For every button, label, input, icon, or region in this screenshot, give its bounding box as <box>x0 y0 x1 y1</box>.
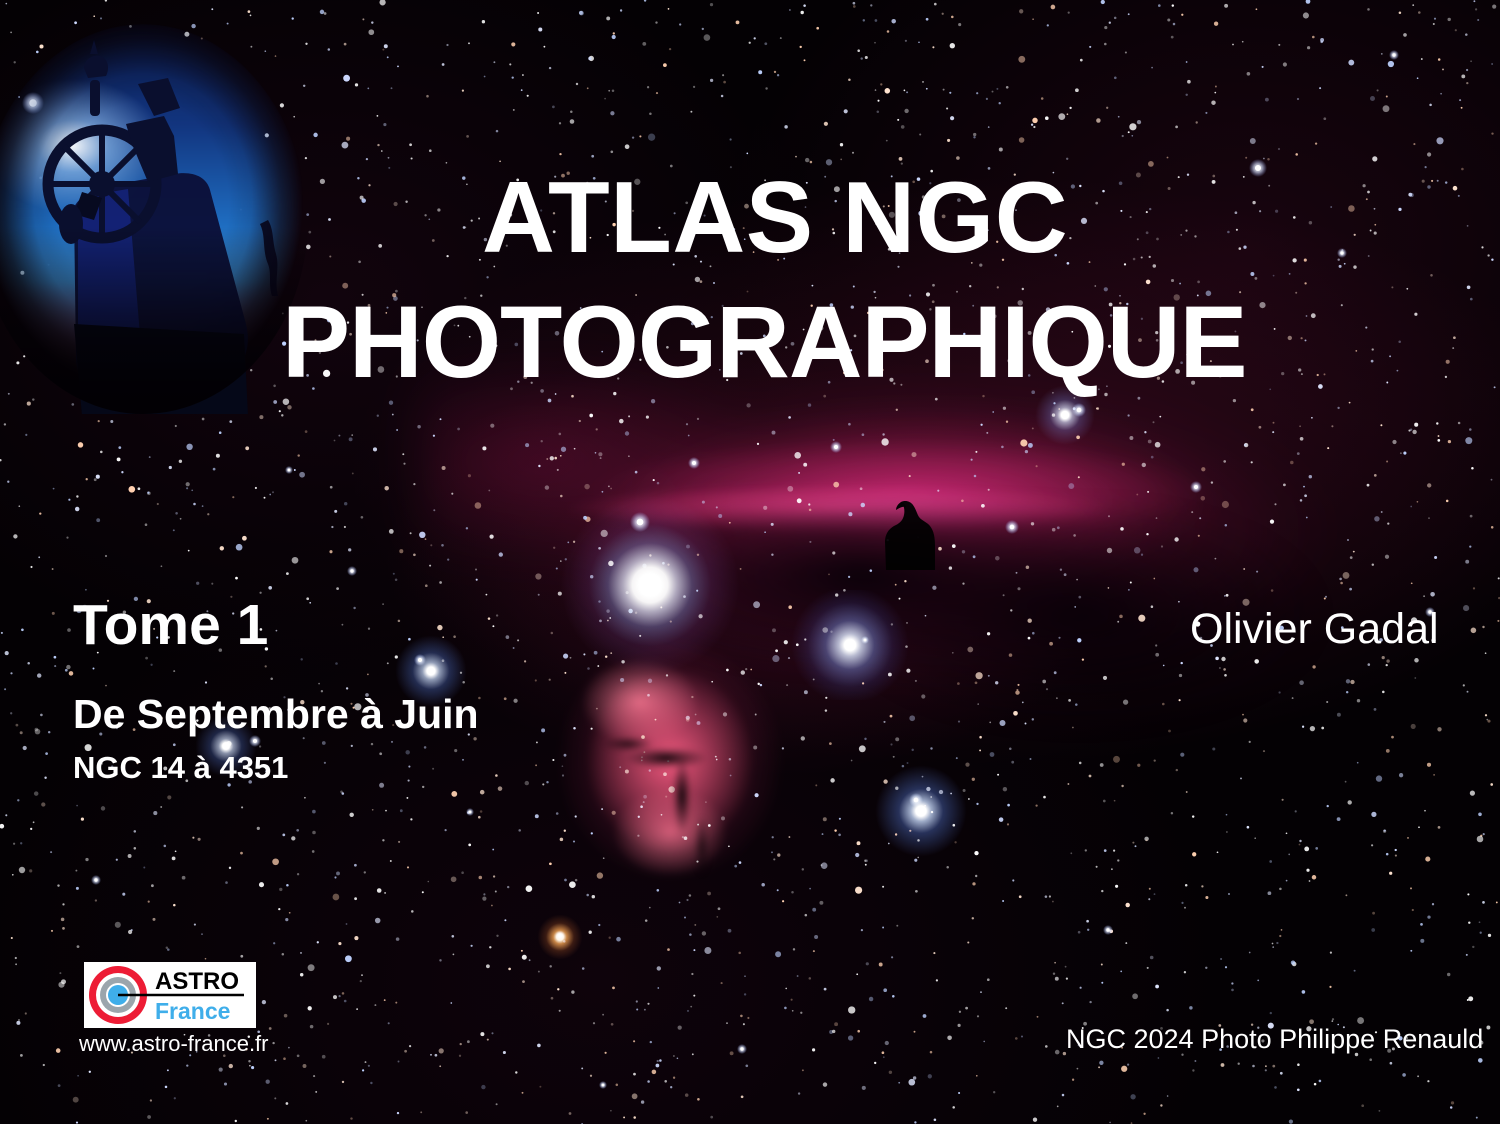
astro-france-logo-mark: ASTRO France <box>84 962 256 1028</box>
subtitle-label: De Septembre à Juin <box>73 694 479 735</box>
logo-text-astro: ASTRO <box>155 968 239 995</box>
logo-text-france: France <box>155 998 230 1024</box>
ngc-range-label: NGC 14 à 4351 <box>73 752 288 783</box>
photo-credit: NGC 2024 Photo Philippe Renauld <box>1066 1026 1483 1053</box>
dobsonian-telescope-inset <box>0 24 308 414</box>
ngc2023-reflection-nebula <box>790 590 910 700</box>
book-cover: ATLAS NGC PHOTOGRAPHIQUE Tome 1 De Septe… <box>0 0 1500 1124</box>
volume-label: Tome 1 <box>73 597 268 654</box>
orange-star <box>538 915 582 959</box>
blue-star-lower <box>875 765 967 857</box>
author-name: Olivier Gadal <box>1190 608 1439 651</box>
flame-nebula-dust-lane <box>520 610 820 900</box>
horsehead-nebula-silhouette <box>880 498 940 570</box>
website-url[interactable]: www.astro-france.fr <box>79 1033 269 1055</box>
page-title-line1: ATLAS NGC <box>482 168 1068 269</box>
page-title-line2: PHOTOGRAPHIQUE <box>282 291 1247 393</box>
astro-france-logo[interactable]: ASTRO France <box>84 962 256 1028</box>
